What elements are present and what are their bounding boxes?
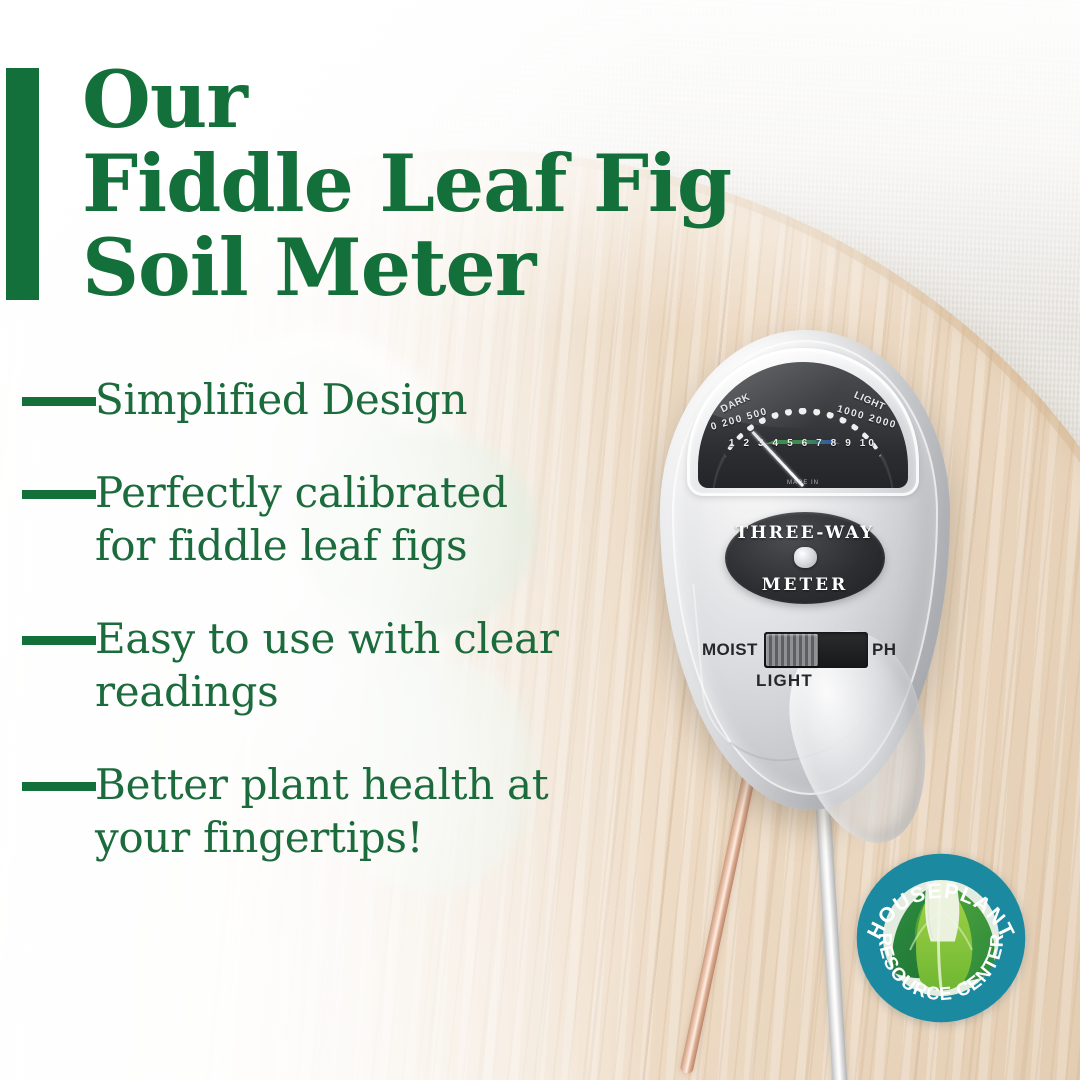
soil-meter-product: DARK LIGHT 0 200 500 1000 2000 1 2 3 4 5… — [640, 330, 1040, 890]
gauge-brand-mark: MADE IN — [698, 480, 908, 486]
feature-text: Easy to use with clearreadings — [95, 612, 640, 718]
feature-text: Better plant health atyour fingertips! — [95, 758, 640, 864]
list-item: Simplified Design — [0, 373, 640, 426]
feature-text: Perfectly calibratedfor fiddle leaf figs — [95, 466, 640, 572]
list-item: Easy to use with clearreadings — [0, 612, 640, 718]
list-item: Better plant health atyour fingertips! — [0, 758, 640, 864]
badge-top-text: THREE-WAY — [725, 523, 885, 543]
switch-knob[interactable] — [766, 634, 818, 666]
dash-icon — [22, 782, 96, 791]
gauge-numeric-scale: 1 2 3 4 5 6 7 8 9 10 — [698, 438, 908, 449]
three-way-meter-badge: THREE-WAY METER — [725, 512, 885, 604]
green-accent-bar — [6, 68, 39, 300]
mode-selector-switch[interactable]: MOIST PH LIGHT — [702, 626, 912, 696]
gauge-dial-face: DARK LIGHT 0 200 500 1000 2000 1 2 3 4 5… — [698, 362, 908, 488]
headline-line-3: Soil Meter — [82, 226, 802, 310]
feature-list: Simplified Design Perfectly calibratedfo… — [0, 373, 640, 904]
dash-icon — [22, 397, 96, 406]
headline-line-1: Our — [82, 58, 802, 142]
page-title: Our Fiddle Leaf Fig Soil Meter — [82, 58, 802, 310]
feature-text: Simplified Design — [95, 373, 640, 426]
badge-center-knob — [794, 547, 817, 568]
switch-label-ph: PH — [872, 640, 896, 660]
headline-line-2: Fiddle Leaf Fig — [82, 142, 802, 226]
houseplant-resource-center-logo: HOUSEPLANT RESOURCE CENTER — [855, 852, 1027, 1024]
switch-track[interactable] — [764, 632, 868, 668]
dash-icon — [22, 490, 96, 499]
badge-bottom-text: METER — [725, 575, 885, 595]
switch-label-moist: MOIST — [702, 640, 758, 660]
dash-icon — [22, 636, 96, 645]
promo-image: DARK LIGHT 0 200 500 1000 2000 1 2 3 4 5… — [0, 0, 1080, 1080]
list-item: Perfectly calibratedfor fiddle leaf figs — [0, 466, 640, 572]
switch-label-light: LIGHT — [756, 671, 813, 691]
